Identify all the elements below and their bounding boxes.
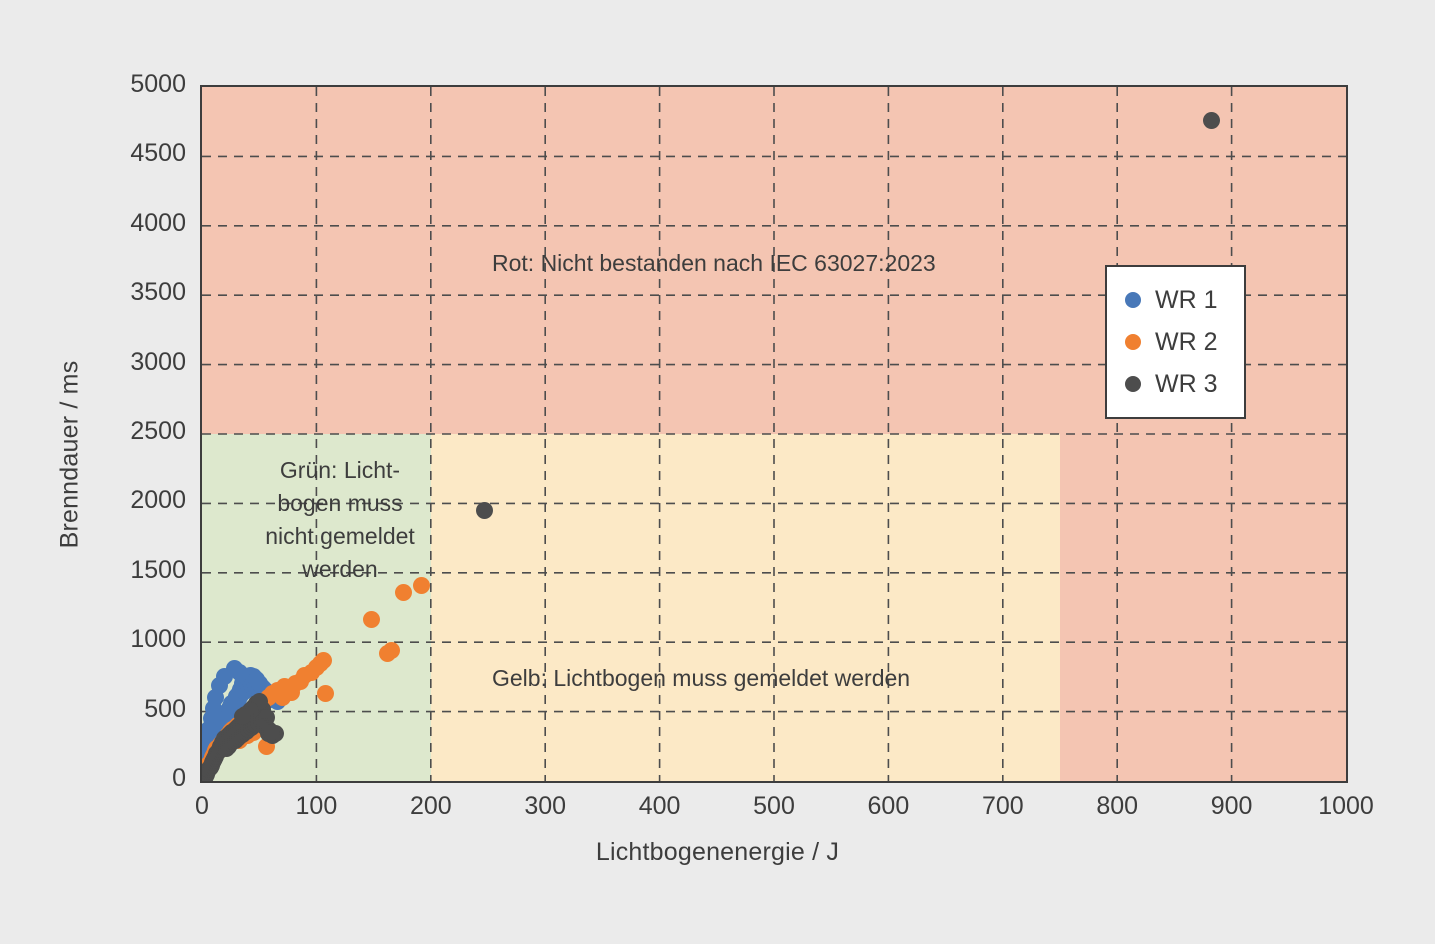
x-tick-label: 500 — [714, 792, 834, 821]
legend-item-wr-1[interactable]: WR 1 — [1125, 279, 1218, 321]
x-tick-label: 0 — [142, 792, 262, 821]
legend-marker-icon — [1125, 376, 1141, 392]
legend-marker-icon — [1125, 292, 1141, 308]
yellow-zone-annotation: Gelb: Lichtbogen muss gemeldet werden — [492, 662, 910, 695]
legend-marker-icon — [1125, 334, 1141, 350]
x-tick-label: 700 — [943, 792, 1063, 821]
legend-item-label: WR 1 — [1155, 286, 1218, 315]
legend-item-label: WR 3 — [1155, 370, 1218, 399]
x-tick-label: 1000 — [1286, 792, 1406, 821]
x-tick-label: 600 — [828, 792, 948, 821]
y-tick-label: 2500 — [66, 417, 186, 446]
y-tick-label: 3000 — [66, 348, 186, 377]
y-tick-label: 1000 — [66, 625, 186, 654]
y-tick-label: 1500 — [66, 556, 186, 585]
x-tick-label: 200 — [371, 792, 491, 821]
red-zone-annotation: Rot: Nicht bestanden nach IEC 63027:2023 — [492, 247, 936, 280]
legend-item-wr-2[interactable]: WR 2 — [1125, 321, 1218, 363]
legend[interactable]: WR 1WR 2WR 3 — [1105, 265, 1246, 419]
x-tick-label: 100 — [256, 792, 376, 821]
x-tick-label: 800 — [1057, 792, 1177, 821]
y-tick-label: 500 — [66, 695, 186, 724]
y-tick-label: 2000 — [66, 486, 186, 515]
y-tick-label: 5000 — [66, 70, 186, 99]
x-axis-title: Lichtbogenenergie / J — [0, 838, 1435, 867]
scatter-chart: Brenndauer / ms Lichtbogenenergie / J 05… — [0, 0, 1435, 944]
x-tick-label: 300 — [485, 792, 605, 821]
y-tick-label: 0 — [66, 764, 186, 793]
y-tick-label: 3500 — [66, 278, 186, 307]
x-tick-label: 400 — [600, 792, 720, 821]
y-tick-label: 4000 — [66, 209, 186, 238]
legend-item-label: WR 2 — [1155, 328, 1218, 357]
legend-item-wr-3[interactable]: WR 3 — [1125, 363, 1218, 405]
green-zone-annotation: Grün: Licht- bogen muss nicht gemeldet w… — [245, 454, 435, 586]
plot-area: Rot: Nicht bestanden nach IEC 63027:2023… — [200, 85, 1348, 783]
x-tick-label: 900 — [1172, 792, 1292, 821]
y-tick-label: 4500 — [66, 139, 186, 168]
